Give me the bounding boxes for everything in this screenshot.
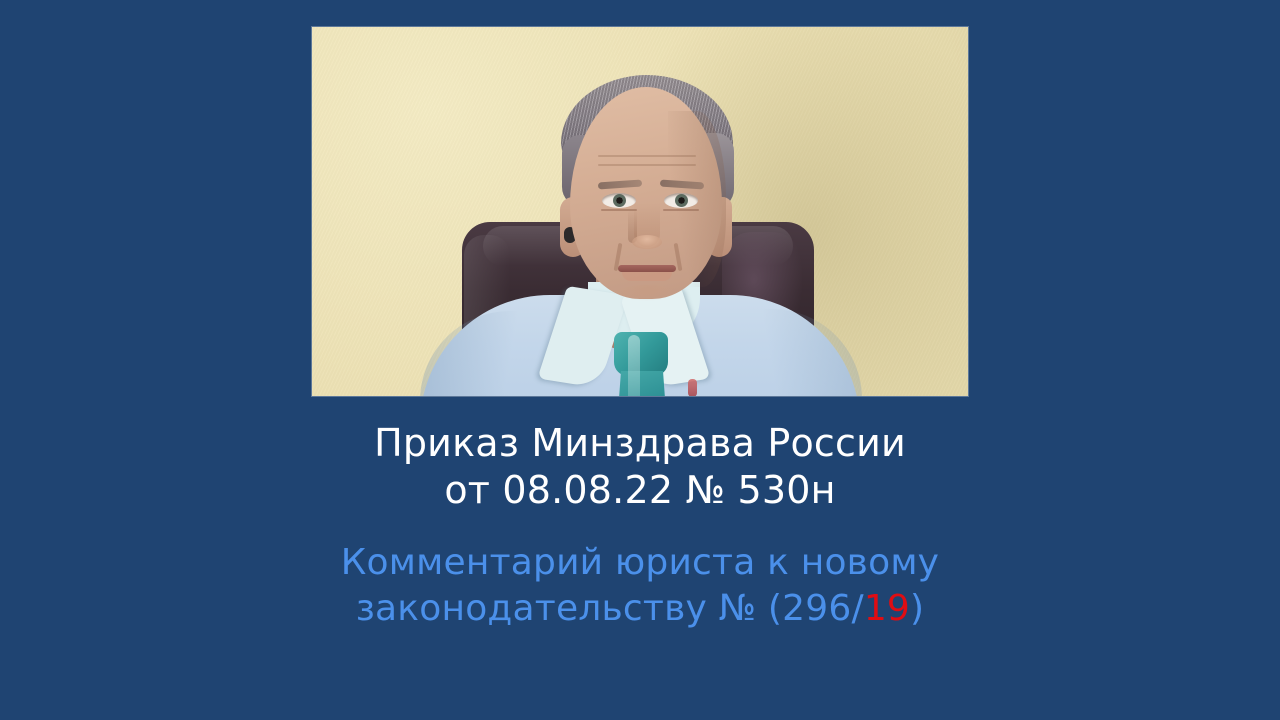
subtitle-line-2: законодательству № (296/19) bbox=[0, 586, 1280, 632]
nose-tip bbox=[632, 235, 662, 249]
iris-right bbox=[675, 194, 688, 207]
forehead-wrinkle-2 bbox=[598, 164, 696, 166]
mouth bbox=[618, 265, 676, 272]
forehead-wrinkle-1 bbox=[598, 155, 696, 157]
subtitle-issue-number: 19 bbox=[864, 588, 910, 629]
title-line-2: от 08.08.22 № 530н bbox=[0, 467, 1280, 514]
eye-right bbox=[664, 193, 698, 208]
tie-highlight bbox=[628, 335, 640, 396]
tie-knot bbox=[614, 332, 668, 376]
iris-left bbox=[613, 194, 626, 207]
chin bbox=[618, 285, 676, 301]
subtitle-line-1: Комментарий юриста к новому bbox=[0, 540, 1280, 586]
tie-body bbox=[617, 371, 667, 396]
slide-title: Приказ Минздрава России от 08.08.22 № 53… bbox=[0, 420, 1280, 514]
title-line-1: Приказ Минздрава России bbox=[0, 420, 1280, 467]
lower-lip bbox=[622, 272, 672, 281]
subtitle-issue-suffix: ) bbox=[910, 588, 924, 629]
slide-canvas: Приказ Минздрава России от 08.08.22 № 53… bbox=[0, 0, 1280, 720]
eye-left bbox=[602, 193, 636, 208]
speaker-photo bbox=[312, 27, 968, 396]
slide-subtitle: Комментарий юриста к новому законодатель… bbox=[0, 540, 1280, 632]
shirt-badge bbox=[688, 379, 697, 396]
subtitle-issue-prefix: законодательству № (296/ bbox=[356, 588, 864, 629]
under-eye-right bbox=[663, 209, 699, 211]
